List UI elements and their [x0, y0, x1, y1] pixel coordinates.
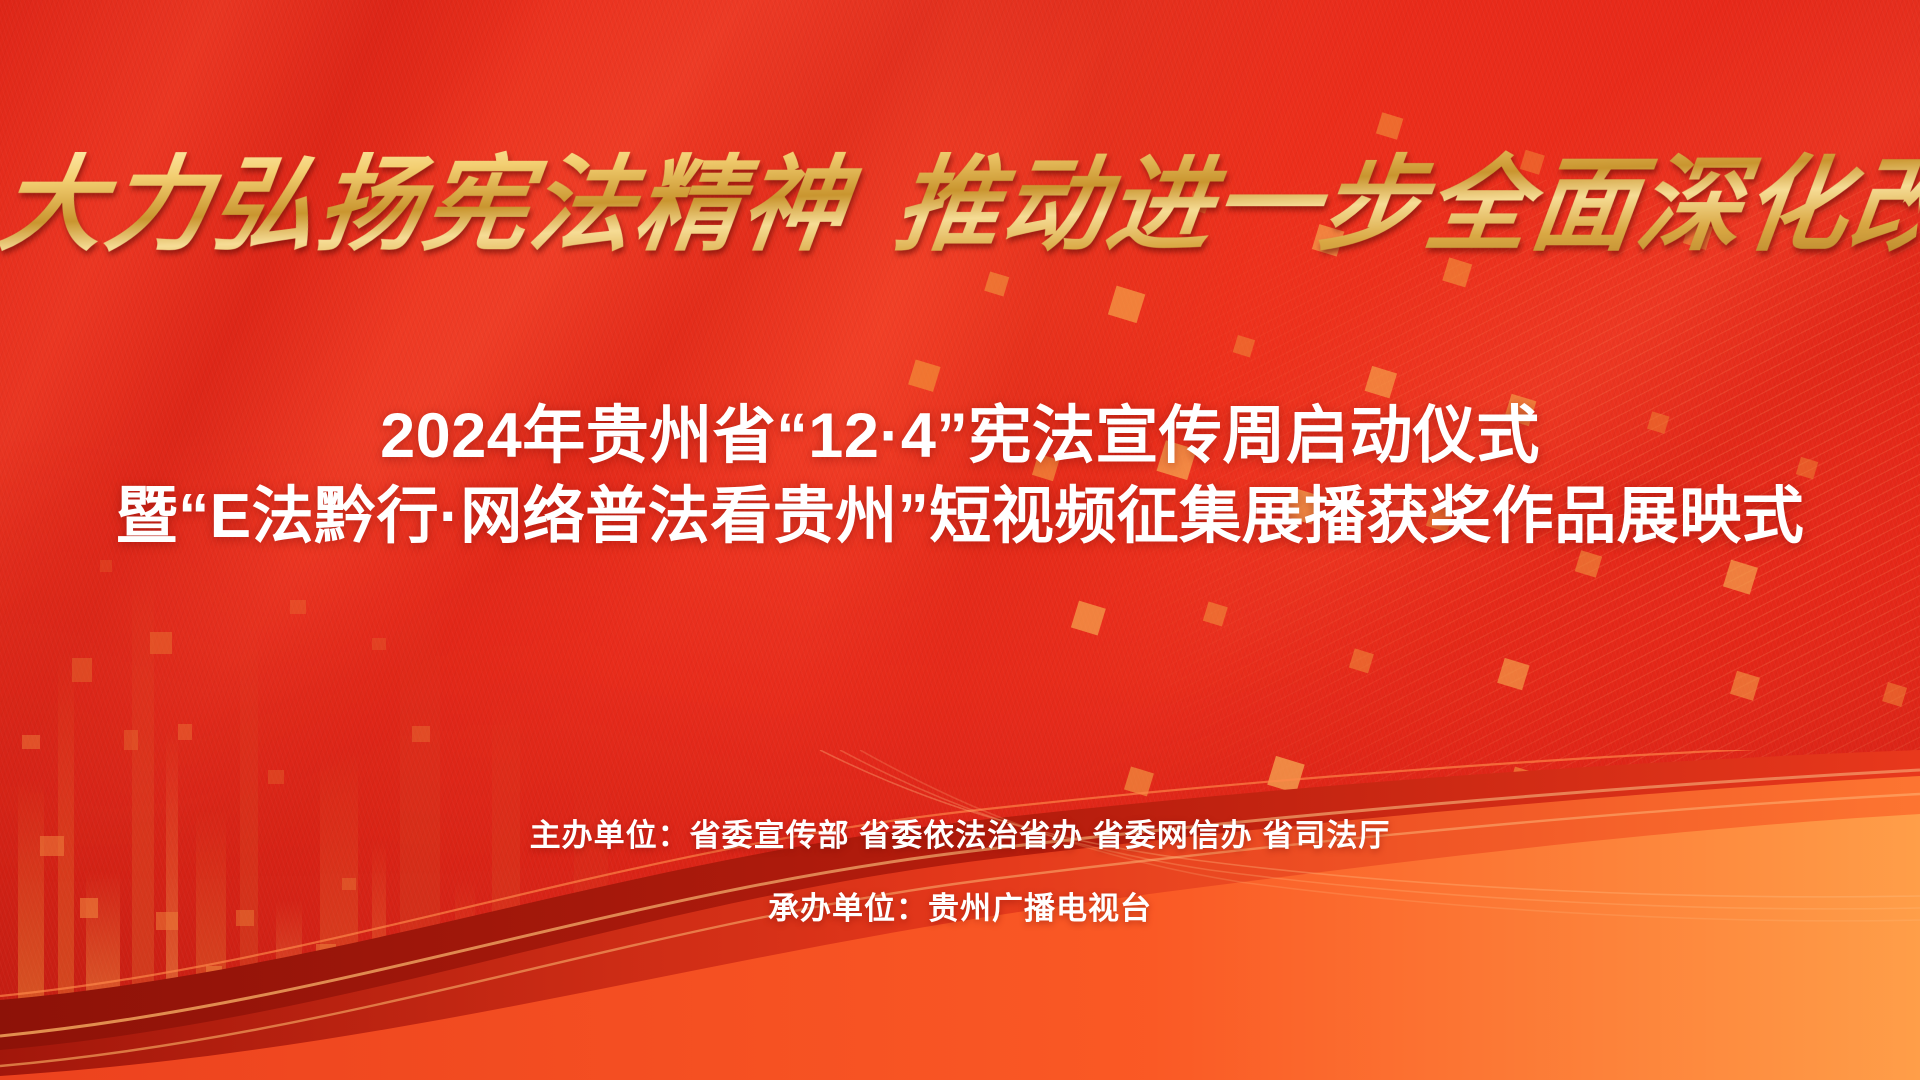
banner-content: 大力弘扬宪法精神推动进一步全面深化改革 2024年贵州省“12·4”宪法宣传周启…	[0, 0, 1920, 1080]
executing-organization: 承办单位：贵州广播电视台	[0, 893, 1920, 924]
event-title: 2024年贵州省“12·4”宪法宣传周启动仪式 暨“E法黔行·网络普法看贵州”短…	[0, 396, 1920, 556]
event-banner: 大力弘扬宪法精神推动进一步全面深化改革 2024年贵州省“12·4”宪法宣传周启…	[0, 0, 1920, 1080]
host-organizations: 主办单位：省委宣传部 省委依法治省办 省委网信办 省司法厅	[0, 820, 1920, 851]
calligraphy-slogan-part1: 大力弘扬宪法精神	[0, 143, 856, 266]
event-title-line-1: 2024年贵州省“12·4”宪法宣传周启动仪式	[0, 396, 1920, 477]
calligraphy-slogan: 大力弘扬宪法精神推动进一步全面深化改革	[0, 150, 1920, 259]
calligraphy-slogan-part2: 推动进一步全面深化改革	[888, 143, 1920, 266]
event-title-line-2: 暨“E法黔行·网络普法看贵州”短视频征集展播获奖作品展映式	[0, 477, 1920, 556]
organizer-credits: 主办单位：省委宣传部 省委依法治省办 省委网信办 省司法厅 承办单位：贵州广播电…	[0, 820, 1920, 924]
